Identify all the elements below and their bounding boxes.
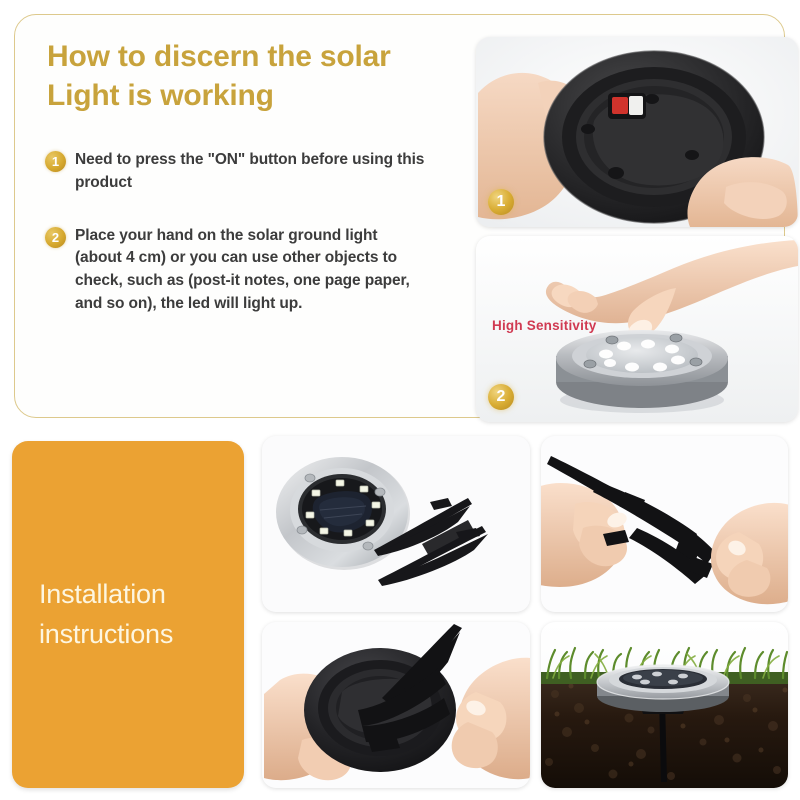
page-title: How to discern the solar Light is workin… [47, 37, 437, 115]
steps-list: 1 Need to press the "ON" button before u… [45, 149, 445, 346]
photo-assemble-stake [541, 436, 788, 612]
ground-cross-section-illustration [541, 622, 788, 788]
step-item-2: 2 Place your hand on the solar ground li… [45, 225, 445, 316]
photo-press-on-button: 1 [476, 37, 798, 227]
press-on-button-illustration [476, 37, 798, 227]
light-with-stake-parts-illustration [262, 436, 530, 612]
step-badge-2: 2 [45, 227, 66, 248]
installation-line-2: instructions [39, 615, 173, 654]
instruction-poster: How to discern the solar Light is workin… [0, 0, 800, 800]
installation-instructions-panel: Installation instructions [12, 441, 244, 788]
installation-panel-text: Installation instructions [12, 575, 173, 653]
photo-badge-2: 2 [488, 384, 514, 410]
how-to-discern-card: How to discern the solar Light is workin… [14, 14, 785, 418]
photo-light-and-stakes [262, 436, 530, 612]
high-sensitivity-label: High Sensitivity [492, 318, 596, 333]
inserting-stake-illustration [262, 622, 530, 788]
photo-insert-stake-into-base [262, 622, 530, 788]
step-text-2: Place your hand on the solar ground ligh… [75, 225, 427, 316]
step-text-1: Need to press the "ON" button before usi… [75, 149, 445, 195]
step-badge-1: 1 [45, 151, 66, 172]
photo-hand-sensitivity: High Sensitivity 2 [476, 236, 798, 422]
two-hands-assembling-stake-illustration [541, 436, 788, 612]
photo-badge-1: 1 [488, 189, 514, 215]
photo-installed-in-ground [541, 622, 788, 788]
installation-line-1: Installation [39, 575, 173, 614]
step-item-1: 1 Need to press the "ON" button before u… [45, 149, 445, 195]
